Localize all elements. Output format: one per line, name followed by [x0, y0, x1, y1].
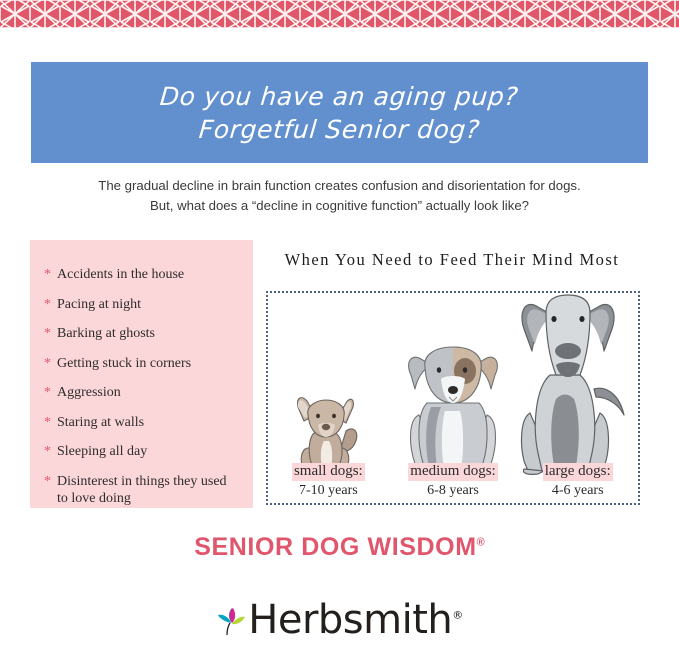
list-item: * Accidents in the house — [44, 266, 239, 283]
company-name: Herbsmith — [248, 597, 452, 643]
symptom-label: Getting stuck in corners — [57, 355, 239, 372]
asterisk-bullet-icon: * — [44, 443, 51, 460]
size-name: medium dogs: — [408, 463, 497, 481]
symptom-label: Disinterest in things they used to love … — [57, 473, 239, 507]
size-label-large: large dogs: 4-6 years — [515, 462, 640, 499]
asterisk-bullet-icon: * — [44, 384, 51, 401]
size-label-medium: medium dogs: 6-8 years — [391, 462, 516, 499]
asterisk-bullet-icon: * — [44, 473, 51, 490]
registered-trademark-icon: ® — [452, 609, 463, 622]
asterisk-bullet-icon: * — [44, 296, 51, 313]
symptom-label: Barking at ghosts — [57, 325, 239, 342]
size-name: large dogs: — [543, 463, 613, 481]
size-years: 6-8 years — [391, 483, 516, 500]
decorative-pattern-strip — [0, 0, 679, 28]
symptom-label: Sleeping all day — [57, 443, 239, 460]
product-brand-name: SENIOR DOG WISDOM — [194, 533, 476, 561]
asterisk-bullet-icon: * — [44, 414, 51, 431]
headline-line-2: Forgetful Senior dog? — [198, 113, 482, 146]
symptom-label: Staring at walls — [57, 414, 239, 431]
list-item: * Barking at ghosts — [44, 325, 239, 342]
product-brand-title: SENIOR DOG WISDOM® — [0, 533, 679, 562]
symptom-list-box: * Accidents in the house * Pacing at nig… — [30, 240, 253, 508]
symptom-label: Pacing at night — [57, 296, 239, 313]
registered-trademark-icon: ® — [477, 537, 485, 549]
symptom-label: Aggression — [57, 384, 239, 401]
list-item: * Pacing at night — [44, 296, 239, 313]
herbsmith-petal-mark-icon — [216, 606, 246, 636]
size-name: small dogs: — [292, 463, 365, 481]
subtitle-line-2: But, what does a “decline in cognitive f… — [31, 196, 648, 216]
dog-size-labels: small dogs: 7-10 years medium dogs: 6-8 … — [266, 462, 640, 499]
asterisk-bullet-icon: * — [44, 355, 51, 372]
headline-line-1: Do you have an aging pup? — [159, 80, 520, 113]
herbsmith-logo: Herbsmith® — [0, 600, 679, 640]
list-item: * Aggression — [44, 384, 239, 401]
large-dog-illustration — [516, 293, 626, 475]
medium-dog-illustration — [401, 345, 505, 475]
herbsmith-wordmark: Herbsmith® — [248, 600, 462, 640]
asterisk-bullet-icon: * — [44, 325, 51, 342]
panel-heading: When You Need to Feed Their Mind Most — [262, 250, 642, 270]
size-years: 7-10 years — [266, 483, 391, 500]
size-label-small: small dogs: 7-10 years — [266, 462, 391, 499]
symptom-label: Accidents in the house — [57, 266, 239, 283]
list-item: * Staring at walls — [44, 414, 239, 431]
headline-banner: Do you have an aging pup? Forgetful Seni… — [31, 62, 648, 163]
subtitle-line-1: The gradual decline in brain function cr… — [31, 176, 648, 196]
asterisk-bullet-icon: * — [44, 266, 51, 283]
list-item: * Sleeping all day — [44, 443, 239, 460]
dog-illustration-stage — [266, 285, 640, 475]
list-item: * Disinterest in things they used to lov… — [44, 473, 239, 507]
size-years: 4-6 years — [515, 483, 640, 500]
subtitle-paragraph: The gradual decline in brain function cr… — [31, 176, 648, 216]
list-item: * Getting stuck in corners — [44, 355, 239, 372]
